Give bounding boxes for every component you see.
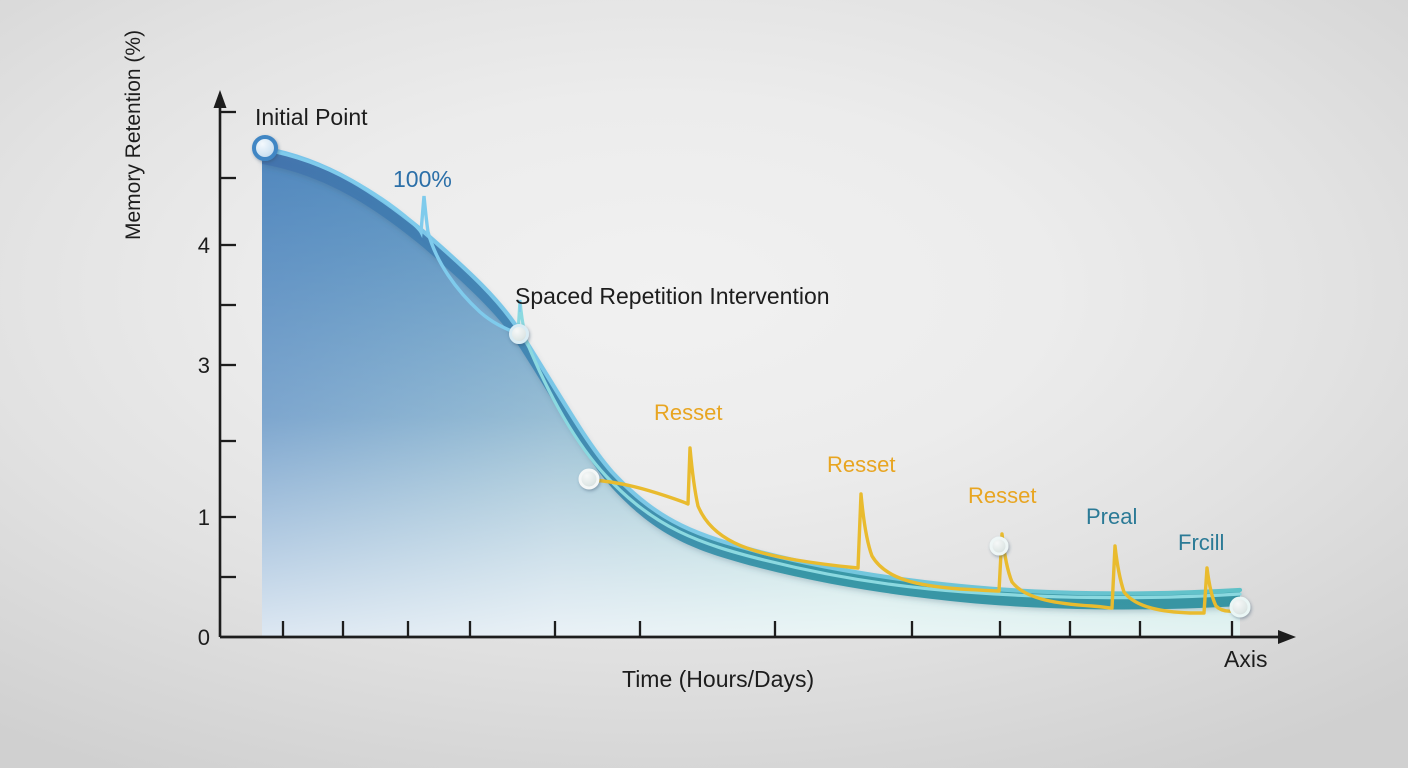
annotation-frcill: Frcill bbox=[1178, 532, 1224, 554]
annotation-reset-2: Resset bbox=[827, 454, 895, 476]
y-tick-label-3: 3 bbox=[176, 353, 210, 379]
memory-retention-chart bbox=[0, 0, 1408, 768]
y-tick-label-1: 1 bbox=[176, 505, 210, 531]
chart-canvas: Initial Point 100% Spaced Repetition Int… bbox=[0, 0, 1408, 768]
marker-initial-point bbox=[254, 137, 276, 159]
y-axis-arrow bbox=[214, 90, 227, 108]
annotation-hundred-percent: 100% bbox=[393, 168, 452, 191]
y-tick-label-0: 0 bbox=[176, 625, 210, 651]
annotation-spaced-repetition: Spaced Repetition Intervention bbox=[515, 285, 830, 308]
y-axis-title: Memory Retention (%) bbox=[122, 0, 146, 240]
x-axis-arrow bbox=[1278, 630, 1296, 644]
annotation-initial-point: Initial Point bbox=[255, 106, 368, 129]
y-tick-label-4: 4 bbox=[176, 233, 210, 259]
x-axis-title: Time (Hours/Days) bbox=[622, 668, 814, 691]
annotation-preal: Preal bbox=[1086, 506, 1137, 528]
annotation-reset-1: Resset bbox=[654, 402, 722, 424]
annotation-reset-3: Resset bbox=[968, 485, 1036, 507]
x-axis-end-label: Axis bbox=[1224, 648, 1267, 671]
marker-final-recall bbox=[1231, 598, 1249, 616]
marker-reset-start bbox=[580, 470, 598, 488]
y-axis-ticks bbox=[220, 112, 236, 577]
marker-spaced-repetition-intervention bbox=[511, 326, 528, 343]
marker-mid-recall bbox=[991, 538, 1007, 554]
